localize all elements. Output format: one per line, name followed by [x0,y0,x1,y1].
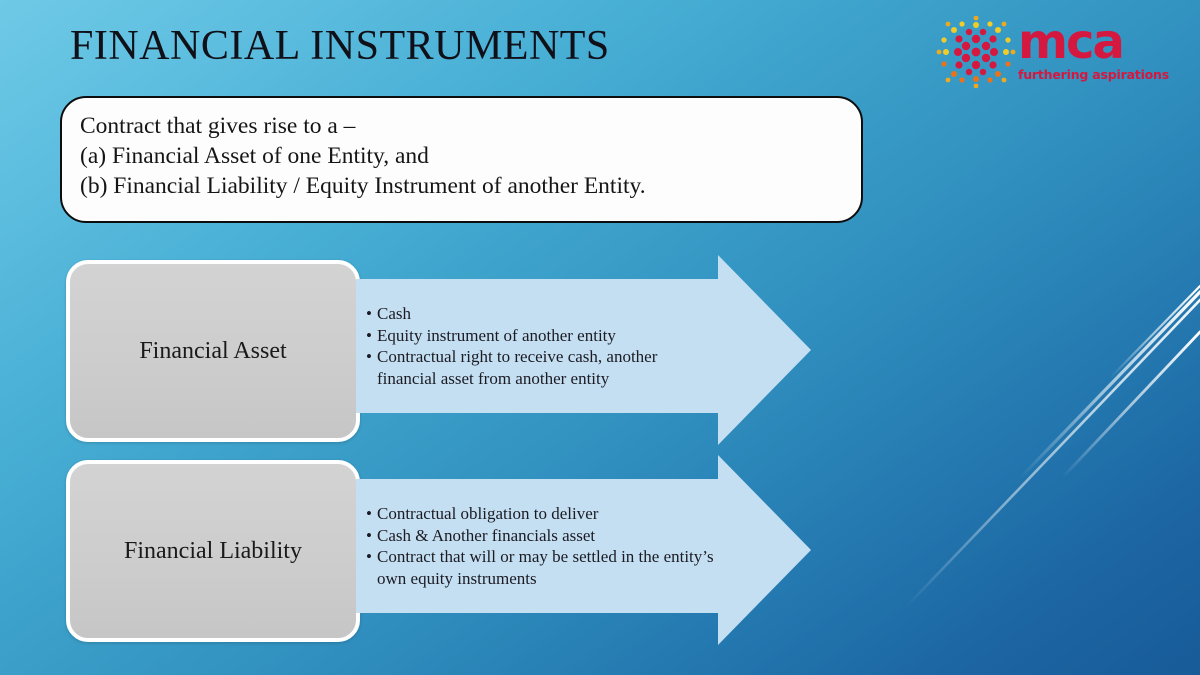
label-box-financial-liability: Financial Liability [66,460,360,642]
bullets-financial-asset: Cash Equity instrument of another entity… [366,303,716,389]
list-item: Contractual right to receive cash, anoth… [366,346,716,389]
label-box-financial-asset: Financial Asset [66,260,360,442]
starburst-dots-icon [936,16,1016,88]
list-item: Equity instrument of another entity [366,325,716,347]
page-title: FINANCIAL INSTRUMENTS [70,22,610,70]
slide: FINANCIAL INSTRUMENTS [0,0,1200,675]
label-financial-asset: Financial Asset [139,338,286,365]
logo-wordmark-group: mca furthering aspirations [1018,16,1188,88]
list-item: Contract that will or may be settled in … [366,546,716,589]
logo-tagline: furthering aspirations [1018,67,1188,82]
list-item: Cash [366,303,716,325]
list-item: Cash & Another financials asset [366,525,716,547]
label-financial-liability: Financial Liability [124,538,302,565]
callout-line-1: Contract that gives rise to a – [80,111,843,141]
logo-wordmark: mca [1018,16,1188,68]
callout-line-2: (a) Financial Asset of one Entity, and [80,141,843,171]
mca-logo: mca furthering aspirations [930,14,1192,90]
bullets-financial-liability: Contractual obligation to deliver Cash &… [366,503,716,589]
callout-line-3: (b) Financial Liability / Equity Instrum… [80,171,843,201]
list-item: Contractual obligation to deliver [366,503,716,525]
definition-callout: Contract that gives rise to a – (a) Fina… [60,96,863,223]
